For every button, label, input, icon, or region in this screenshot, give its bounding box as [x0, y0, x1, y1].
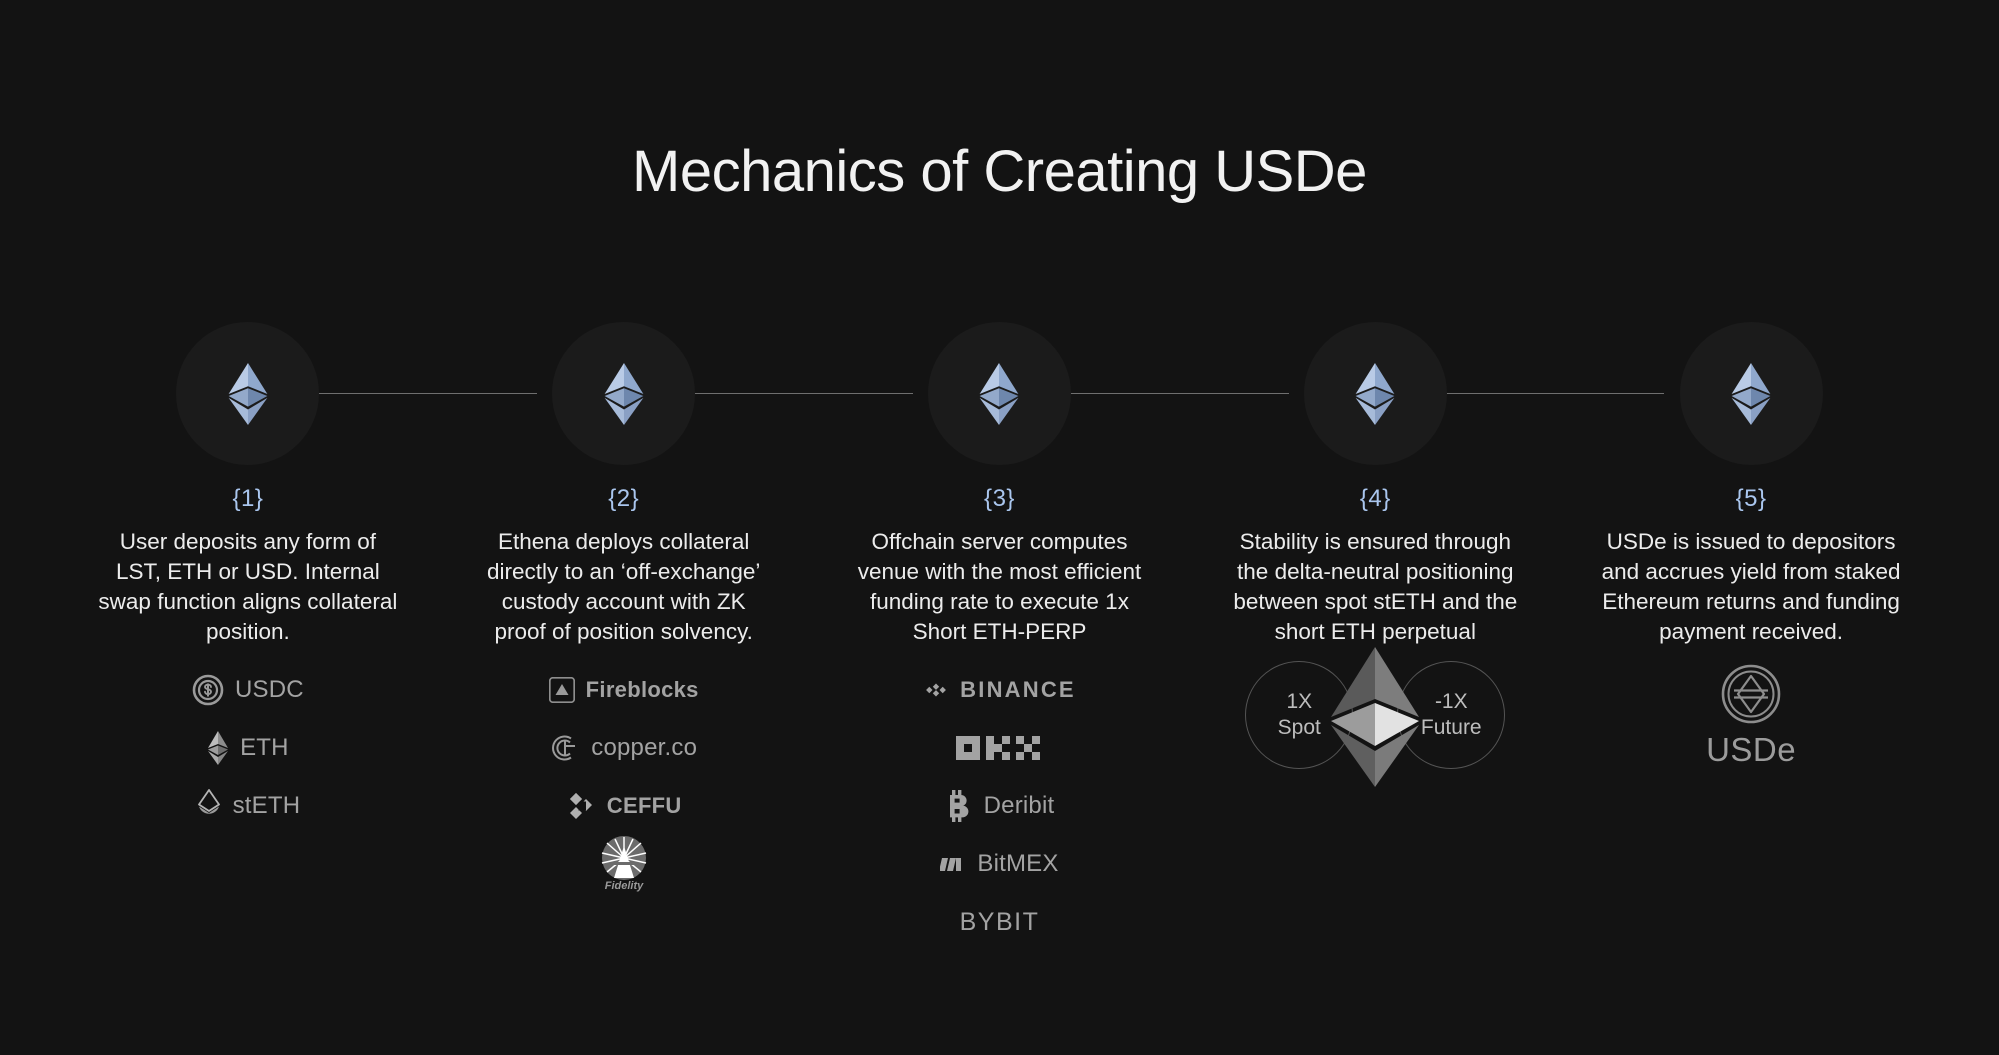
deribit-logo-label: Deribit: [984, 794, 1055, 818]
step-1: {1} User deposits any form of LST, ETH o…: [60, 322, 436, 823]
fidelity-logo-icon: Fidelity: [597, 834, 651, 894]
steth-lido-droplet-icon: [196, 789, 222, 823]
deribit-logo-icon: [945, 790, 973, 822]
copper-logo-label: copper.co: [591, 736, 697, 760]
ethereum-diamond-icon: [603, 363, 645, 425]
delta-neutral-venn: 1X Spot -1X Future: [1245, 661, 1505, 785]
step-2-description: Ethena deploys collateral directly to an…: [474, 527, 774, 647]
fidelity-logo-wordmark: Fidelity: [604, 880, 643, 892]
step-1-number: {1}: [232, 487, 263, 511]
step-4-node[interactable]: [1304, 322, 1447, 465]
step-3-description: Offchain server computes venue with the …: [849, 527, 1149, 647]
okx-logo-row[interactable]: [956, 731, 1042, 765]
bitmex-logo-label: BitMEX: [977, 852, 1058, 876]
step-1-node[interactable]: [176, 322, 319, 465]
step-4-number: {4}: [1360, 487, 1391, 511]
deribit-logo-row[interactable]: Deribit: [945, 789, 1055, 823]
ethereum-diamond-icon: [227, 363, 269, 425]
usdc-logo-label: USDC: [235, 678, 304, 702]
usdc-logo-icon: [192, 674, 224, 706]
ethereum-diamond-icon: [1354, 363, 1396, 425]
page-title: Mechanics of Creating USDe: [0, 138, 1999, 205]
step-3-logo-list: BINANCE: [812, 673, 1188, 939]
step-5-number: {5}: [1736, 487, 1767, 511]
step-5: {5} USDe is issued to depositors and acc…: [1563, 322, 1939, 769]
step-4: {4} Stability is ensured through the del…: [1187, 322, 1563, 785]
ethereum-diamond-icon: [978, 363, 1020, 425]
copper-logo-icon: [550, 733, 580, 763]
ethereum-diamond-icon: [1730, 363, 1772, 425]
venn-left-line1: 1X: [1286, 689, 1312, 715]
step-5-node[interactable]: [1680, 322, 1823, 465]
usde-token-label: USDe: [1706, 731, 1796, 769]
eth-logo-icon: [207, 731, 229, 765]
step-3-node[interactable]: [928, 322, 1071, 465]
usdc-logo-row[interactable]: USDC: [192, 673, 304, 707]
venn-right-line1: -1X: [1435, 689, 1468, 715]
copper-logo-row[interactable]: copper.co: [550, 731, 697, 765]
venn-right-line2: Future: [1421, 715, 1482, 741]
ethereum-diamond-grey-icon: [1329, 647, 1421, 787]
eth-logo-label: ETH: [240, 736, 289, 760]
bitmex-logo-icon: [940, 852, 966, 876]
step-1-logo-list: USDC ETH: [60, 673, 436, 823]
bybit-logo-label: BYBIT: [960, 910, 1040, 935]
eth-logo-row[interactable]: ETH: [207, 731, 289, 765]
steps-row: {1} User deposits any form of LST, ETH o…: [60, 322, 1939, 939]
step-2-node[interactable]: [552, 322, 695, 465]
okx-logo-icon: [956, 733, 1042, 763]
binance-logo-label: BINANCE: [960, 679, 1076, 701]
binance-logo-icon: [923, 677, 949, 703]
usde-token-icon: [1720, 663, 1782, 725]
ceffu-logo-row[interactable]: CEFFU: [566, 789, 682, 823]
ceffu-logo-icon: [566, 791, 596, 821]
fireblocks-logo-row[interactable]: Fireblocks: [549, 673, 699, 707]
bitmex-logo-row[interactable]: BitMEX: [940, 847, 1058, 881]
step-1-description: User deposits any form of LST, ETH or US…: [98, 527, 398, 647]
usde-token-block: USDe: [1706, 663, 1796, 769]
step-2-logo-list: Fireblocks copper.co: [436, 673, 812, 881]
steth-logo-row[interactable]: stETH: [196, 789, 301, 823]
step-3-number: {3}: [984, 487, 1015, 511]
step-3: {3} Offchain server computes venue with …: [812, 322, 1188, 939]
slide-canvas: Mechanics of Creating USDe {1} User depo…: [0, 0, 1999, 1055]
bybit-logo-row[interactable]: BYBIT: [960, 905, 1040, 939]
step-5-description: USDe is issued to depositors and accrues…: [1601, 527, 1901, 647]
fireblocks-logo-label: Fireblocks: [586, 679, 699, 701]
fireblocks-logo-icon: [549, 677, 575, 703]
step-2: {2} Ethena deploys collateral directly t…: [436, 322, 812, 881]
ceffu-logo-label: CEFFU: [607, 795, 682, 817]
fidelity-logo-row[interactable]: Fidelity: [597, 847, 651, 881]
step-2-number: {2}: [608, 487, 639, 511]
venn-left-line2: Spot: [1278, 715, 1321, 741]
binance-logo-row[interactable]: BINANCE: [923, 673, 1076, 707]
steth-logo-label: stETH: [233, 794, 301, 818]
step-4-description: Stability is ensured through the delta-n…: [1225, 527, 1525, 647]
